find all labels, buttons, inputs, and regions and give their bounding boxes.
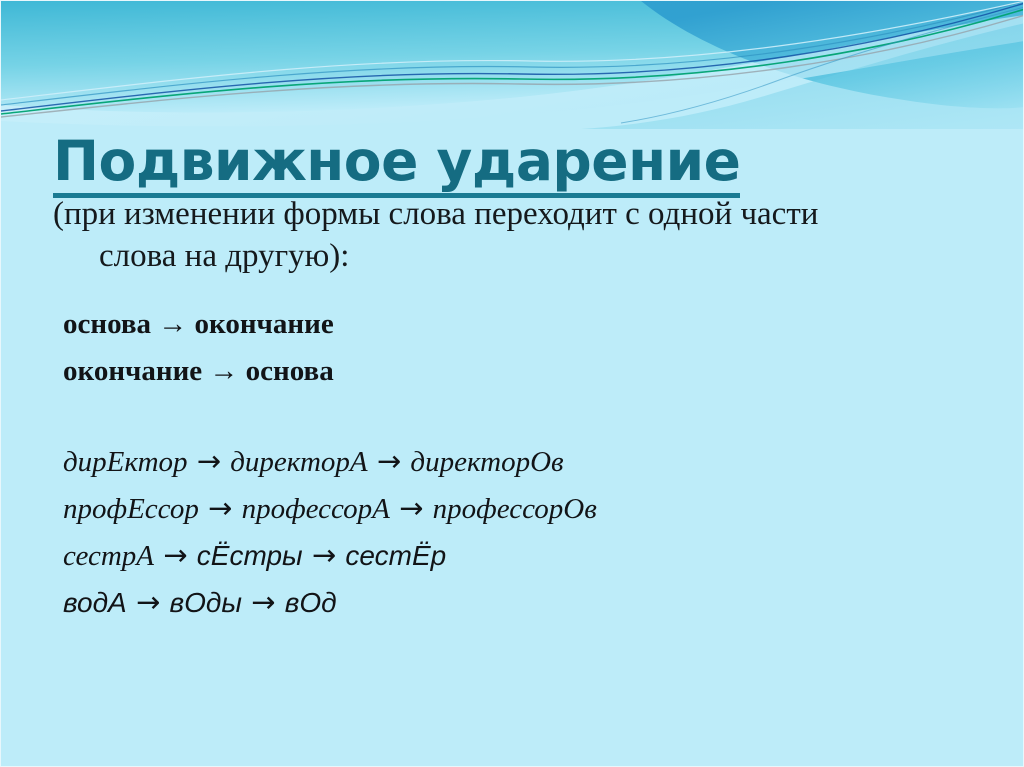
example-word: профессорА [242, 493, 390, 525]
example-word: сЁстры [197, 540, 303, 571]
pattern-item: окончание → основа [63, 348, 334, 395]
example-row: дирЕктор → директорА → директорОв [63, 438, 597, 485]
example-list: дирЕктор → директорА → директорОв профЕс… [63, 438, 597, 626]
arrow-glyph: → [154, 538, 197, 572]
example-word: вОд [285, 587, 337, 618]
arrow-glyph: → [303, 538, 346, 572]
example-word: вОды [169, 587, 241, 618]
arrow-glyph: → [188, 444, 231, 478]
example-word: директорА [230, 446, 367, 478]
example-row: водА → вОды → вОд [63, 579, 597, 626]
subtitle-line-2: слова на другую): [53, 235, 983, 277]
example-row: сестрА → сЁстры → сестЁр [63, 532, 597, 579]
example-word: директорОв [410, 446, 563, 478]
title-block: Подвижное ударение [53, 131, 753, 198]
slide-canvas: Подвижное ударение (при изменении формы … [0, 0, 1024, 767]
example-row: профЕссор → профессорА → профессорОв [63, 485, 597, 532]
arrow-glyph: → [390, 491, 433, 525]
example-word: сестЁр [345, 540, 446, 571]
arrow-glyph: → [368, 444, 411, 478]
arrow-glyph: → [199, 491, 242, 525]
slide-content: Подвижное ударение (при изменении формы … [1, 1, 1024, 767]
arrow-glyph: → [242, 585, 285, 619]
example-word: профЕссор [63, 493, 199, 525]
example-word: водА [63, 587, 127, 618]
arrow-glyph: → [127, 585, 170, 619]
page-title: Подвижное ударение [53, 131, 740, 198]
example-word: дирЕктор [63, 446, 188, 478]
subtitle-line-1: (при изменении формы слова переходит с о… [53, 196, 818, 232]
example-word: сестрА [63, 540, 154, 572]
pattern-list: основа → окончание окончание → основа [63, 301, 334, 395]
example-word: профессорОв [433, 493, 597, 525]
subtitle-text: (при изменении формы слова переходит с о… [53, 193, 983, 277]
pattern-item: основа → окончание [63, 301, 334, 348]
